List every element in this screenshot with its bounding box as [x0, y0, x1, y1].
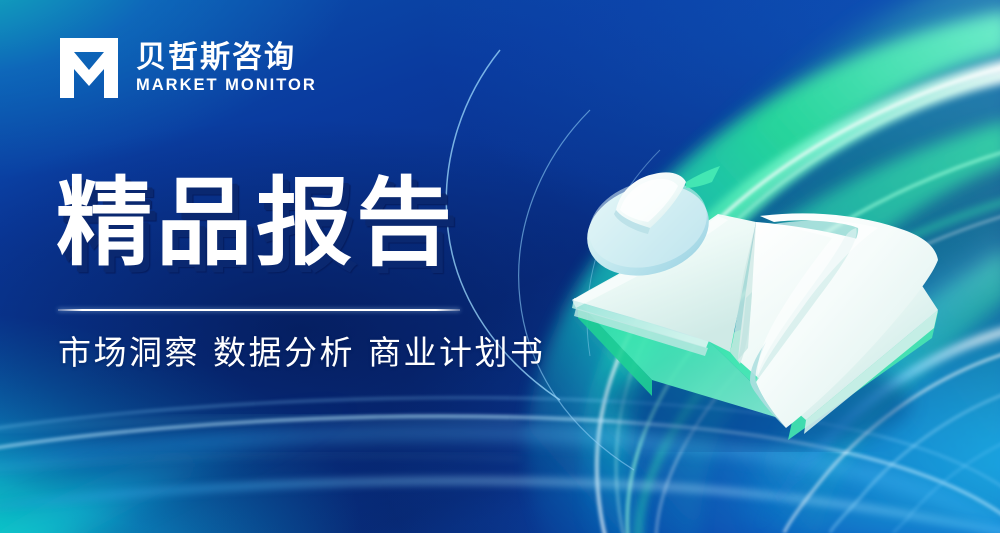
page-title: 精品报告 [56, 172, 456, 276]
title-divider [58, 309, 460, 311]
market-monitor-m-logo-icon [58, 36, 120, 100]
page-subtitle: 市场洞察 数据分析 商业计划书 [58, 331, 545, 376]
company-name-cn: 贝哲斯咨询 [136, 42, 317, 74]
brand-logo-text: 贝哲斯咨询 MARKET MONITOR [136, 42, 317, 95]
company-name-en: MARKET MONITOR [136, 76, 317, 94]
brand-logo[interactable]: 贝哲斯咨询 MARKET MONITOR [58, 36, 317, 100]
report-banner: 贝哲斯咨询 MARKET MONITOR 精品报告 市场洞察 数据分析 商业计划… [0, 0, 1000, 533]
open-book-3d-illustration [560, 152, 940, 452]
